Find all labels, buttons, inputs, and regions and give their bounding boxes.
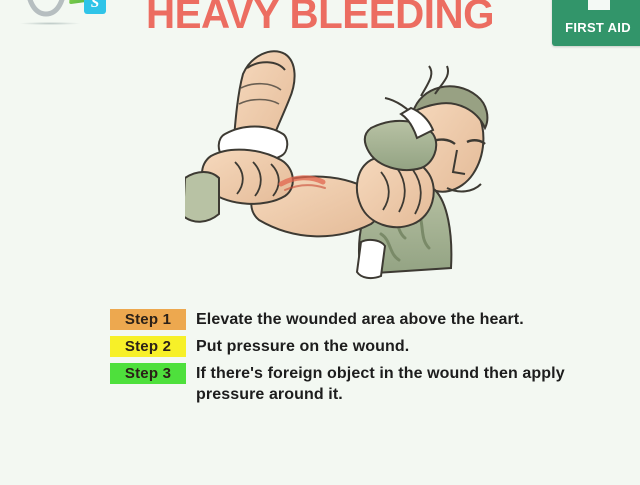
- step-badge-2: Step 2: [110, 336, 186, 357]
- step-badge-1: Step 1: [110, 309, 186, 330]
- first-aid-badge: FIRST AID: [552, 0, 640, 46]
- person-elevating-bleeding-arm-illustration: [185, 38, 515, 293]
- list-item: Step 3 If there's foreign object in the …: [110, 363, 580, 405]
- page-title: HEAVY BLEEDING: [13, 0, 627, 38]
- steps-list: Step 1 Elevate the wounded area above th…: [110, 309, 580, 411]
- first-aid-label: FIRST AID: [552, 20, 640, 35]
- medical-cross-icon: [588, 0, 610, 10]
- step-text-2: Put pressure on the wound.: [196, 336, 409, 357]
- step-text-1: Elevate the wounded area above the heart…: [196, 309, 524, 330]
- step-badge-3: Step 3: [110, 363, 186, 384]
- step-text-3: If there's foreign object in the wound t…: [196, 363, 568, 405]
- list-item: Step 2 Put pressure on the wound.: [110, 336, 580, 357]
- list-item: Step 1 Elevate the wounded area above th…: [110, 309, 580, 330]
- first-aid-poster: S HEAVY BLEEDING FIRST AID: [0, 0, 640, 485]
